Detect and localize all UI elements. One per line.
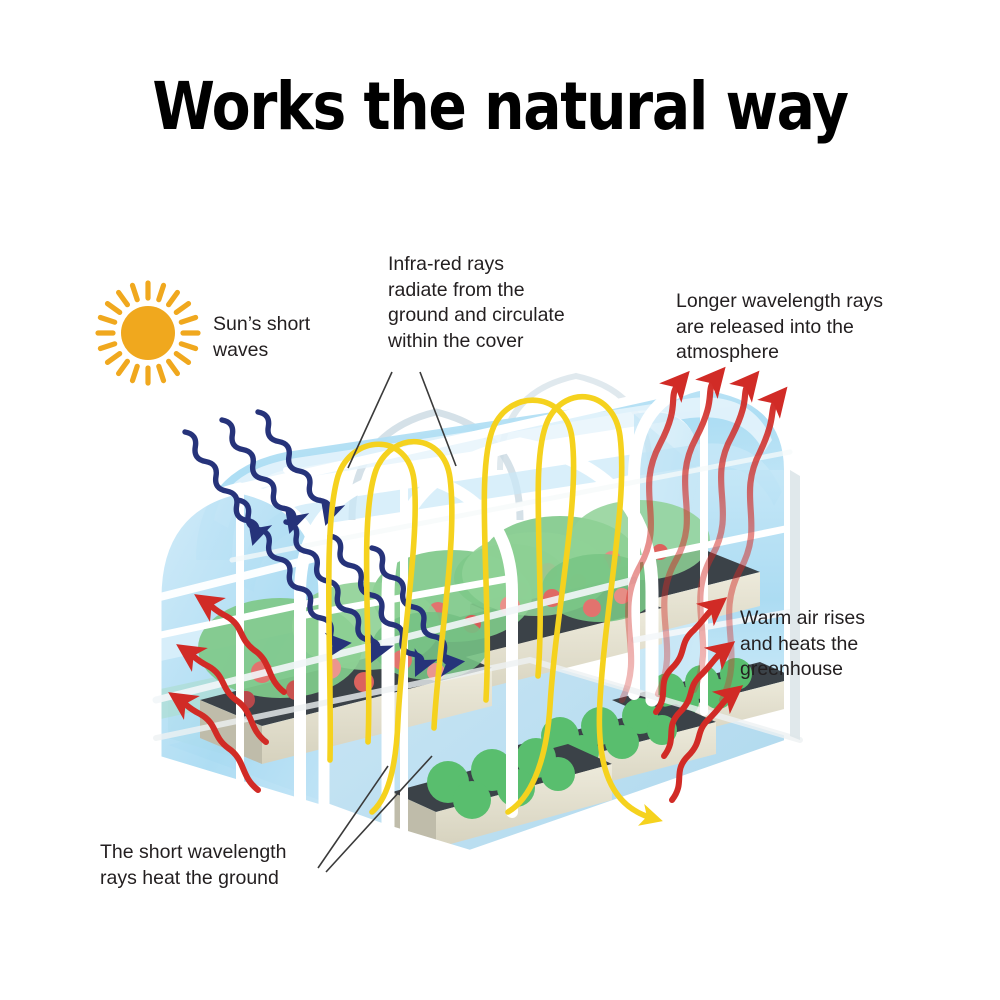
sun-short-waves-label: Sun’s short waves: [213, 312, 373, 363]
infrared-rays-label: Infra-red rays radiate from the ground a…: [388, 252, 603, 354]
corner-post-shade: [790, 470, 800, 740]
infographic-canvas: Works the natural way: [0, 0, 1000, 1000]
short-wavelength-ground-label: The short wavelength rays heat the groun…: [100, 840, 350, 891]
warm-air-rises-label: Warm air rises and heats the greenhouse: [740, 606, 920, 683]
longer-wavelength-label: Longer wavelength rays are released into…: [676, 289, 926, 366]
sun-icon: [98, 283, 198, 383]
sun-core: [121, 306, 175, 360]
